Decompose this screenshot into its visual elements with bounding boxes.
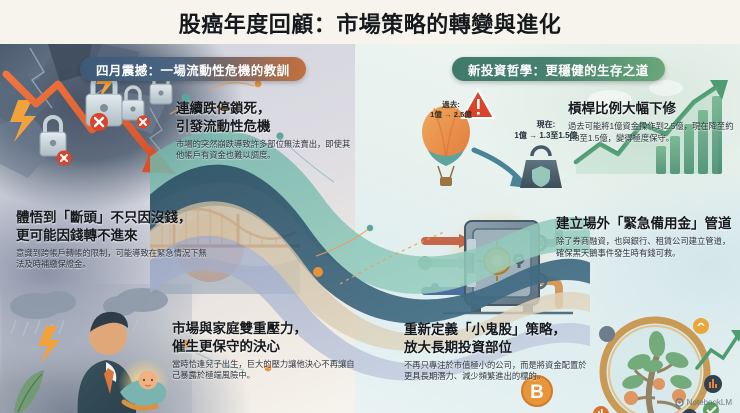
x-mark-icon (137, 116, 150, 129)
past-leverage-label: 過去: 1億 → 2.5億 (418, 100, 484, 121)
right-card-2-heading: 建立場外「緊急備用金」管道 (556, 215, 736, 233)
watermark: NotebookLM (675, 398, 732, 407)
right-card-1-heading: 槓桿比例大幅下修 (568, 100, 736, 118)
right-card-3-heading: 重新定義「小鬼股」策略，放大長期投資部位 (404, 321, 590, 357)
left-card-2: 體悟到「斷頭」不只因沒錢，更可能因錢轉不進來 意識到跨帳戶轉帳的限制，可能導致在… (16, 209, 212, 271)
svg-text:B: B (530, 382, 544, 403)
watermark-label: NotebookLM (687, 398, 732, 407)
right-section-header: 新投資哲學：更穩健的生存之道 (452, 57, 665, 81)
past-label-text: 過去: (418, 100, 484, 110)
lock-icon (122, 87, 144, 120)
left-card-1-body: 市場的突然崩跌導致許多部位無法賣出，即使其他帳戶有資金也難以調度。 (176, 139, 354, 163)
page-title: 股癌年度回顧：市場策略的轉變與進化 (179, 7, 562, 39)
now-leverage-label: 現在: 1億 → 1.3至1.5億 (500, 119, 592, 141)
right-card-1-body: 過去可能將1億資金操作到2.5億，現在降至約1.3至1.5億，變得極度保守。 (568, 121, 736, 145)
magnifier-tree-illustration (593, 306, 740, 413)
right-card-2: 建立場外「緊急備用金」管道 除了券商融資，也與銀行、租賃公司建立管道，確保黑天鵝… (556, 215, 736, 259)
title-bar: 股癌年度回顧：市場策略的轉變與進化 (0, 0, 740, 46)
x-mark-icon (90, 113, 108, 131)
left-card-2-heading: 體悟到「斷頭」不只因沒錢，更可能因錢轉不進來 (16, 209, 212, 245)
right-card-2-body: 除了券商融資，也與銀行、租賃公司建立管道，確保黑天鵝事件發生時有錢可救。 (556, 236, 736, 260)
past-value-text: 1億 → 2.5億 (418, 110, 484, 120)
infographic-canvas: B (0, 0, 740, 413)
lock-icon (40, 117, 66, 156)
now-value-text: 1億 → 1.3至1.5億 (500, 130, 592, 141)
now-label-text: 現在: (500, 119, 592, 130)
left-card-3-body: 當時恰逢兒子出生，巨大的壓力讓他決心不再讓自己暴露於極端風險中。 (172, 359, 358, 383)
left-card-3-heading: 市場與家庭雙重壓力，催生更保守的決心 (172, 320, 358, 356)
x-mark-icon (57, 151, 72, 166)
left-card-2-body: 意識到跨帳戶轉帳的限制，可能導致在緊急情況下無法及時補繳保證金。 (16, 248, 212, 272)
father-baby-illustration (2, 284, 192, 413)
right-card-3: 重新定義「小鬼股」策略，放大長期投資部位 不再只專注於市值極小的公司，而是將資金… (404, 321, 590, 383)
notebooklm-logo-icon (675, 398, 684, 407)
left-card-3: 市場與家庭雙重壓力，催生更保守的決心 當時恰逢兒子出生，巨大的壓力讓他決心不再讓… (172, 320, 358, 382)
weight-shield-icon (520, 147, 562, 188)
right-card-1: 槓桿比例大幅下修 過去可能將1億資金操作到2.5億，現在降至約1.3至1.5億，… (568, 100, 736, 144)
left-card-1-heading: 連續跌停鎖死，引發流動性危機 (176, 100, 354, 136)
left-card-1: 連續跌停鎖死，引發流動性危機 市場的突然崩跌導致許多部位無法賣出，即使其他帳戶有… (176, 100, 354, 162)
right-card-3-body: 不再只專注於市值極小的公司，而是將資金配置於更具長期潛力、減少頻繁進出的標的。 (404, 360, 590, 384)
left-section-header: 四月震撼：一場流動性危機的教訓 (80, 57, 306, 81)
